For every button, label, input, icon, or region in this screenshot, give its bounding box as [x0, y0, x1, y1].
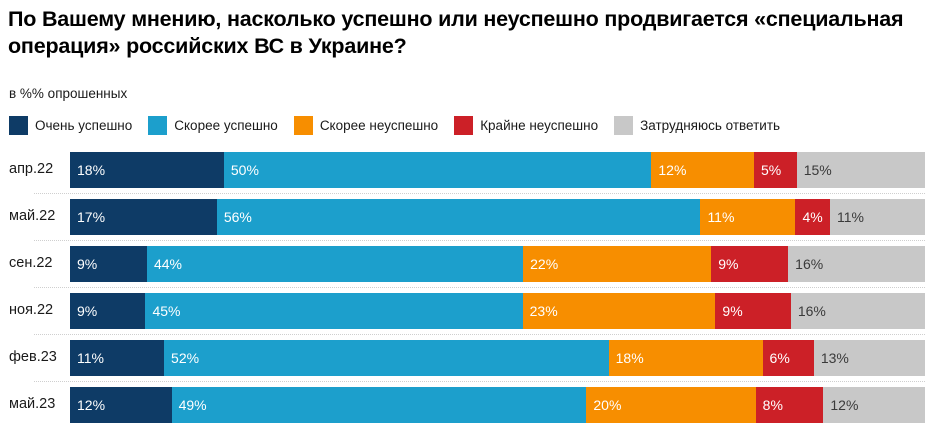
bar-segment[interactable]: 12%: [823, 387, 925, 423]
legend-swatch-icon: [9, 116, 28, 135]
legend-item[interactable]: Очень успешно: [9, 116, 132, 135]
bar-segment[interactable]: 15%: [797, 152, 925, 188]
row-separator: [34, 381, 925, 383]
bar-segment-value: 5%: [754, 163, 781, 177]
row-category-label: май.23: [9, 381, 55, 428]
chart-row: апр.2218%50%12%5%15%: [0, 146, 940, 193]
bar-segment-value: 9%: [70, 257, 97, 271]
bar-segment-value: 56%: [217, 210, 252, 224]
bar-segment[interactable]: 6%: [763, 340, 814, 376]
bar-segment[interactable]: 52%: [164, 340, 609, 376]
chart-row: сен.229%44%22%9%16%: [0, 240, 940, 287]
chart-subtitle: в %% опрошенных: [9, 86, 127, 101]
row-category-label: май.22: [9, 193, 55, 240]
bar-segment[interactable]: 9%: [70, 246, 147, 282]
bar-segment[interactable]: 45%: [145, 293, 522, 329]
chart-row: май.2312%49%20%8%12%: [0, 381, 940, 428]
bar-segment-value: 45%: [145, 304, 180, 318]
bar-segment[interactable]: 12%: [70, 387, 172, 423]
row-category-label: апр.22: [9, 146, 53, 193]
bar-segment-value: 18%: [609, 351, 644, 365]
chart-title: По Вашему мнению, насколько успешно или …: [8, 6, 928, 60]
bar-segment-value: 12%: [70, 398, 105, 412]
bar-segment[interactable]: 9%: [70, 293, 145, 329]
bar-segment[interactable]: 9%: [711, 246, 788, 282]
bar-segment[interactable]: 5%: [754, 152, 797, 188]
bar-segment-value: 20%: [586, 398, 621, 412]
legend-item[interactable]: Крайне неуспешно: [454, 116, 598, 135]
bar-segment-value: 16%: [791, 304, 826, 318]
bar-segment[interactable]: 12%: [651, 152, 754, 188]
bar-segment-value: 9%: [70, 304, 97, 318]
chart-plot-area: апр.2218%50%12%5%15%май.2217%56%11%4%11%…: [0, 146, 940, 428]
bar-segment-value: 18%: [70, 163, 105, 177]
chart-container: По Вашему мнению, насколько успешно или …: [0, 0, 940, 428]
bar-segment-value: 49%: [172, 398, 207, 412]
stacked-bar: 9%45%23%9%16%: [70, 293, 925, 329]
legend-item-label: Скорее успешно: [174, 116, 278, 135]
bar-segment[interactable]: 11%: [830, 199, 925, 235]
bar-segment[interactable]: 4%: [795, 199, 830, 235]
bar-segment-value: 12%: [823, 398, 858, 412]
bar-segment[interactable]: 13%: [814, 340, 925, 376]
bar-segment-value: 9%: [711, 257, 738, 271]
bar-segment-value: 16%: [788, 257, 823, 271]
stacked-bar: 9%44%22%9%16%: [70, 246, 925, 282]
bar-segment-value: 15%: [797, 163, 832, 177]
bar-segment[interactable]: 49%: [172, 387, 587, 423]
bar-segment[interactable]: 8%: [756, 387, 824, 423]
bar-segment-value: 22%: [523, 257, 558, 271]
legend-item[interactable]: Скорее неуспешно: [294, 116, 438, 135]
bar-segment[interactable]: 9%: [715, 293, 790, 329]
chart-row: ноя.229%45%23%9%16%: [0, 287, 940, 334]
bar-segment[interactable]: 11%: [70, 340, 164, 376]
legend-item-label: Очень успешно: [35, 116, 132, 135]
legend-item-label: Крайне неуспешно: [480, 116, 598, 135]
row-category-label: ноя.22: [9, 287, 53, 334]
bar-segment[interactable]: 16%: [791, 293, 925, 329]
bar-segment-value: 23%: [523, 304, 558, 318]
bar-segment-value: 11%: [70, 351, 104, 365]
bar-segment-value: 11%: [700, 210, 734, 224]
bar-segment-value: 11%: [830, 210, 864, 224]
legend-swatch-icon: [614, 116, 633, 135]
bar-segment[interactable]: 16%: [788, 246, 925, 282]
bar-segment-value: 6%: [763, 351, 790, 365]
bar-segment-value: 52%: [164, 351, 199, 365]
legend-swatch-icon: [294, 116, 313, 135]
legend-item-label: Скорее неуспешно: [320, 116, 438, 135]
bar-segment[interactable]: 20%: [586, 387, 755, 423]
chart-row: май.2217%56%11%4%11%: [0, 193, 940, 240]
bar-segment-value: 8%: [756, 398, 783, 412]
bar-segment[interactable]: 23%: [523, 293, 716, 329]
stacked-bar: 17%56%11%4%11%: [70, 199, 925, 235]
bar-segment[interactable]: 50%: [224, 152, 652, 188]
legend-item[interactable]: Затрудняюсь ответить: [614, 116, 780, 135]
bar-segment[interactable]: 22%: [523, 246, 711, 282]
row-separator: [34, 287, 925, 289]
row-separator: [34, 334, 925, 336]
bar-segment-value: 9%: [715, 304, 742, 318]
bar-segment[interactable]: 11%: [700, 199, 795, 235]
bar-segment[interactable]: 56%: [217, 199, 701, 235]
bar-segment[interactable]: 18%: [609, 340, 763, 376]
stacked-bar: 18%50%12%5%15%: [70, 152, 925, 188]
row-separator: [34, 193, 925, 195]
legend-item[interactable]: Скорее успешно: [148, 116, 278, 135]
bar-segment[interactable]: 44%: [147, 246, 523, 282]
bar-segment-value: 4%: [795, 210, 822, 224]
stacked-bar: 12%49%20%8%12%: [70, 387, 925, 423]
stacked-bar: 11%52%18%6%13%: [70, 340, 925, 376]
legend-swatch-icon: [454, 116, 473, 135]
row-separator: [34, 240, 925, 242]
bar-segment-value: 17%: [70, 210, 105, 224]
row-category-label: фев.23: [9, 334, 57, 381]
chart-legend: Очень успешноСкорее успешноСкорее неуспе…: [9, 115, 796, 135]
legend-swatch-icon: [148, 116, 167, 135]
bar-segment-value: 50%: [224, 163, 259, 177]
row-category-label: сен.22: [9, 240, 52, 287]
bar-segment[interactable]: 17%: [70, 199, 217, 235]
bar-segment-value: 44%: [147, 257, 182, 271]
chart-row: фев.2311%52%18%6%13%: [0, 334, 940, 381]
bar-segment[interactable]: 18%: [70, 152, 224, 188]
bar-segment-value: 12%: [651, 163, 686, 177]
bar-segment-value: 13%: [814, 351, 849, 365]
legend-item-label: Затрудняюсь ответить: [640, 116, 780, 135]
